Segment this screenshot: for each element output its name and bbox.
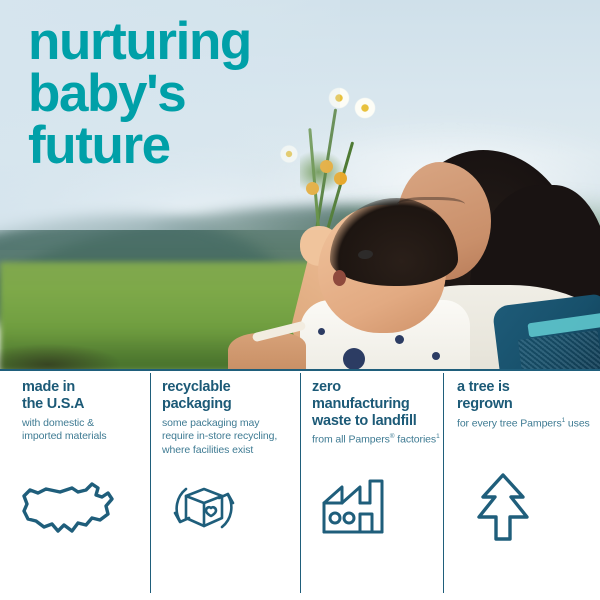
panel-subtitle: for every tree Pampers1 uses bbox=[457, 417, 595, 431]
panel-divider bbox=[300, 373, 301, 593]
shirt-dot bbox=[343, 348, 365, 370]
white-flower bbox=[352, 95, 378, 121]
panel-subtitle-text: for every tree Pampers bbox=[457, 417, 562, 429]
tree-arrow-icon bbox=[470, 471, 536, 548]
panel-tree-regrown: a tree is regrown for every tree Pampers… bbox=[457, 379, 595, 431]
recycle-box-icon bbox=[168, 475, 240, 546]
shirt-dot bbox=[395, 335, 404, 344]
baby-mouth bbox=[333, 270, 346, 286]
panel-recyclable-packaging: recyclable packaging some packaging may … bbox=[162, 379, 294, 457]
pampers-nurturing-baby-poster: nurturing baby's future made in the U.S.… bbox=[0, 0, 600, 600]
panel-subtitle-tail: uses bbox=[565, 417, 590, 429]
page-title: nurturing baby's future bbox=[28, 16, 251, 172]
feature-panels: made in the U.S.A with domestic & import… bbox=[0, 371, 600, 600]
usa-map-icon bbox=[16, 479, 124, 546]
panel-title: recyclable packaging bbox=[162, 379, 294, 413]
panel-title: made in the U.S.A bbox=[22, 379, 140, 413]
panel-zero-waste: zero manufacturing waste to landfill fro… bbox=[312, 379, 440, 447]
panel-subtitle-tail: factories bbox=[394, 434, 436, 446]
panel-subtitle: from all Pampers® factories1 bbox=[312, 433, 440, 447]
foreground-shadow bbox=[0, 344, 120, 371]
factory-icon bbox=[318, 477, 390, 544]
shirt-dot bbox=[432, 352, 440, 360]
shirt-dot bbox=[318, 328, 325, 335]
panel-made-in-usa: made in the U.S.A with domestic & import… bbox=[22, 379, 140, 444]
panel-divider bbox=[443, 373, 444, 593]
footnote-mark: 1 bbox=[436, 433, 440, 440]
panel-title: zero manufacturing waste to landfill bbox=[312, 379, 440, 429]
panel-subtitle: some packaging may require in-store recy… bbox=[162, 417, 294, 457]
panel-subtitle: with domestic & imported materials bbox=[22, 417, 140, 444]
panel-divider bbox=[150, 373, 151, 593]
panel-subtitle-text: from all Pampers bbox=[312, 434, 390, 446]
panel-title: a tree is regrown bbox=[457, 379, 595, 413]
